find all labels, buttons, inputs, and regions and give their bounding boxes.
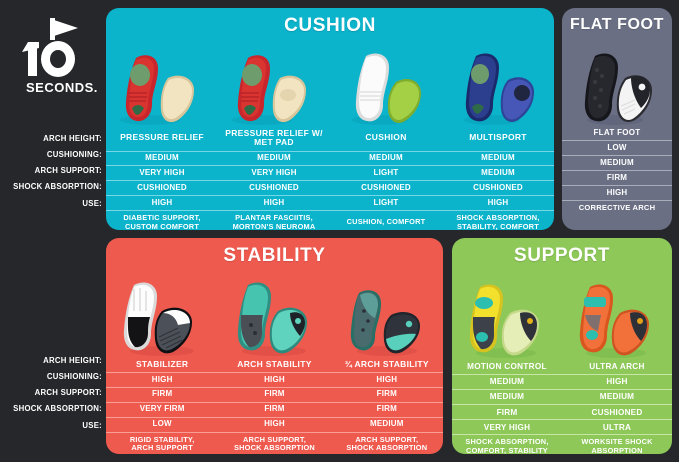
stability-spec-table: STABILIZER ARCH STABILITY ¾ ARCH STABILI… <box>106 357 443 454</box>
support-product-images <box>452 273 672 359</box>
flat-foot-product-images <box>562 40 672 126</box>
cell-value: MEDIUM <box>330 151 442 166</box>
stability-product-images <box>106 271 443 357</box>
column-header: STABILIZER <box>106 357 218 373</box>
table-row-shock-absorption: HIGH <box>562 186 672 201</box>
column-header: CUSHION <box>330 126 442 151</box>
cell-value: LOW <box>106 417 218 432</box>
cell-value: MEDIUM <box>452 374 562 389</box>
cell-value: HIGH <box>218 417 330 432</box>
cell-value: LIGHT <box>330 166 442 181</box>
table-row-arch-height: MEDIUM MEDIUM MEDIUM MEDIUM <box>106 151 554 166</box>
cell-value: HIGH <box>442 196 554 211</box>
table-header-row: STABILIZER ARCH STABILITY ¾ ARCH STABILI… <box>106 357 443 373</box>
row-label-use: USE: <box>0 194 102 212</box>
cell-value: MEDIUM <box>442 151 554 166</box>
column-header: MULTISPORT <box>442 126 554 151</box>
row-label-shock-absorption: SHOCK ABSORPTION: <box>0 400 102 416</box>
cell-value: WORKSITE SHOCKABSORPTION <box>562 435 672 454</box>
cell-value: MEDIUM <box>562 156 672 171</box>
table-row-arch-height: MEDIUM HIGH <box>452 374 672 389</box>
cell-value: SHOCK ABSORPTION,COMFORT, STABILITY <box>452 435 562 454</box>
cell-value: MEDIUM <box>106 151 218 166</box>
table-row-use: DIABETIC SUPPORT,CUSTOM COMFORT PLANTAR … <box>106 211 554 230</box>
table-row-arch-height: HIGH HIGH HIGH <box>106 373 443 388</box>
product-image-arch-stability <box>218 271 330 357</box>
table-row-cushioning: MEDIUM <box>562 156 672 171</box>
cell-value: HIGH <box>562 374 672 389</box>
product-image-pressure-relief-met-pad <box>218 40 330 126</box>
product-image-pressure-relief <box>106 40 218 126</box>
cell-value: VERY HIGH <box>452 420 562 435</box>
cell-value: RIGID STABILITY,ARCH SUPPORT <box>106 432 218 454</box>
cell-value: HIGH <box>106 373 218 388</box>
panel-stability[interactable]: STABILITY <box>106 238 443 454</box>
cell-value: PLANTAR FASCIITIS,MORTON'S NEUROMA <box>218 211 330 230</box>
product-image-motion-control <box>452 273 562 359</box>
panel-stability-title: STABILITY <box>106 238 443 267</box>
cell-value: MEDIUM <box>331 417 443 432</box>
column-header: FLAT FOOT <box>562 126 672 141</box>
product-image-three-quarter-arch-stability <box>331 271 443 357</box>
cell-value: HIGH <box>331 373 443 388</box>
panel-support[interactable]: SUPPORT <box>452 238 672 454</box>
product-image-flat-foot <box>562 40 672 126</box>
cell-value: VERY FIRM <box>106 402 218 417</box>
table-header-row: PRESSURE RELIEF PRESSURE RELIEF W/ MET P… <box>106 126 554 151</box>
panel-cushion-title: CUSHION <box>106 8 554 37</box>
column-header: PRESSURE RELIEF W/ MET PAD <box>218 126 330 151</box>
cell-value: CORRECTIVE ARCH <box>562 201 672 217</box>
table-header-row: MOTION CONTROL ULTRA ARCH <box>452 359 672 374</box>
table-row-use: CORRECTIVE ARCH <box>562 201 672 217</box>
cell-value: MEDIUM <box>442 166 554 181</box>
cushion-product-images <box>106 40 554 126</box>
product-image-stabilizer <box>106 271 218 357</box>
row-label-arch-support: ARCH SUPPORT: <box>0 162 102 178</box>
table-row-shock-absorption: HIGH HIGH LIGHT HIGH <box>106 196 554 211</box>
cell-value: FIRM <box>331 387 443 402</box>
column-header: PRESSURE RELIEF <box>106 126 218 151</box>
cell-value: CUSHIONED <box>442 181 554 196</box>
product-image-ultra-arch <box>562 273 672 359</box>
row-label-cushioning: CUSHIONING: <box>0 368 102 384</box>
cell-value: HIGH <box>562 186 672 201</box>
cell-value: MEDIUM <box>562 389 672 404</box>
table-row-cushioning: VERY HIGH VERY HIGH LIGHT MEDIUM <box>106 166 554 181</box>
cell-value: FIRM <box>218 387 330 402</box>
table-row-use: RIGID STABILITY,ARCH SUPPORT ARCH SUPPOR… <box>106 432 443 454</box>
table-row-arch-height: LOW <box>562 141 672 156</box>
cell-value: CUSHIONED <box>106 181 218 196</box>
panel-flat-foot-title: FLAT FOOT <box>562 8 672 34</box>
svg-text:SECONDS.: SECONDS. <box>26 80 98 95</box>
table-row-cushioning: MEDIUM MEDIUM <box>452 389 672 404</box>
ten-seconds-logo-icon: SECONDS. <box>8 14 100 100</box>
table-row-arch-support: FIRM <box>562 171 672 186</box>
cell-value: FIRM <box>562 171 672 186</box>
cell-value: LIGHT <box>330 196 442 211</box>
brand-logo: SECONDS. <box>8 14 100 100</box>
support-spec-table: MOTION CONTROL ULTRA ARCH MEDIUM HIGH ME… <box>452 359 672 454</box>
panel-support-title: SUPPORT <box>452 238 672 267</box>
cell-value: FIRM <box>218 402 330 417</box>
cushion-spec-table: PRESSURE RELIEF PRESSURE RELIEF W/ MET P… <box>106 126 554 230</box>
cell-value: ARCH SUPPORT,SHOCK ABSORPTION <box>331 432 443 454</box>
table-row-cushioning: FIRM FIRM FIRM <box>106 387 443 402</box>
cell-value: MEDIUM <box>218 151 330 166</box>
cell-value: FIRM <box>331 402 443 417</box>
table-row-shock-absorption: LOW HIGH MEDIUM <box>106 417 443 432</box>
row-labels-bottom: ARCH HEIGHT: CUSHIONING: ARCH SUPPORT: S… <box>0 352 102 434</box>
table-row-shock-absorption: VERY HIGH ULTRA <box>452 420 672 435</box>
cell-value: CUSHION, COMFORT <box>330 211 442 230</box>
table-header-row: FLAT FOOT <box>562 126 672 141</box>
table-row-use: SHOCK ABSORPTION,COMFORT, STABILITY WORK… <box>452 435 672 454</box>
panel-flat-foot[interactable]: FLAT FOOT <box>562 8 672 230</box>
cell-value: FIRM <box>452 405 562 420</box>
column-header: MOTION CONTROL <box>452 359 562 374</box>
column-header: ARCH STABILITY <box>218 357 330 373</box>
cell-value: HIGH <box>106 196 218 211</box>
cell-value: VERY HIGH <box>106 166 218 181</box>
cell-value: SHOCK ABSORPTION,STABILITY, COMFORT <box>442 211 554 230</box>
cell-value: HIGH <box>218 196 330 211</box>
cell-value: CUSHIONED <box>330 181 442 196</box>
panel-cushion[interactable]: CUSHION <box>106 8 554 230</box>
row-label-cushioning: CUSHIONING: <box>0 146 102 162</box>
cell-value: VERY HIGH <box>218 166 330 181</box>
cell-value: ARCH SUPPORT,SHOCK ABSORPTION <box>218 432 330 454</box>
cell-value: ULTRA <box>562 420 672 435</box>
row-label-use: USE: <box>0 416 102 434</box>
cell-value: MEDIUM <box>452 389 562 404</box>
column-header: ULTRA ARCH <box>562 359 672 374</box>
product-image-multisport <box>442 40 554 126</box>
insole-comparison-chart: SECONDS. CUSHION <box>0 0 679 462</box>
cell-value: LOW <box>562 141 672 156</box>
table-row-arch-support: CUSHIONED CUSHIONED CUSHIONED CUSHIONED <box>106 181 554 196</box>
row-label-shock-absorption: SHOCK ABSORPTION: <box>0 178 102 194</box>
product-image-cushion <box>330 40 442 126</box>
row-label-arch-support: ARCH SUPPORT: <box>0 384 102 400</box>
cell-value: HIGH <box>218 373 330 388</box>
cell-value: CUSHIONED <box>562 405 672 420</box>
row-label-arch-height: ARCH HEIGHT: <box>0 352 102 368</box>
table-row-arch-support: FIRM CUSHIONED <box>452 405 672 420</box>
row-labels-top: ARCH HEIGHT: CUSHIONING: ARCH SUPPORT: S… <box>0 130 102 212</box>
row-label-arch-height: ARCH HEIGHT: <box>0 130 102 146</box>
table-row-arch-support: VERY FIRM FIRM FIRM <box>106 402 443 417</box>
flat-foot-spec-table: FLAT FOOT LOW MEDIUM FIRM HIGH CORRECTIV… <box>562 126 672 217</box>
cell-value: CUSHIONED <box>218 181 330 196</box>
cell-value: FIRM <box>106 387 218 402</box>
column-header: ¾ ARCH STABILITY <box>331 357 443 373</box>
cell-value: DIABETIC SUPPORT,CUSTOM COMFORT <box>106 211 218 230</box>
